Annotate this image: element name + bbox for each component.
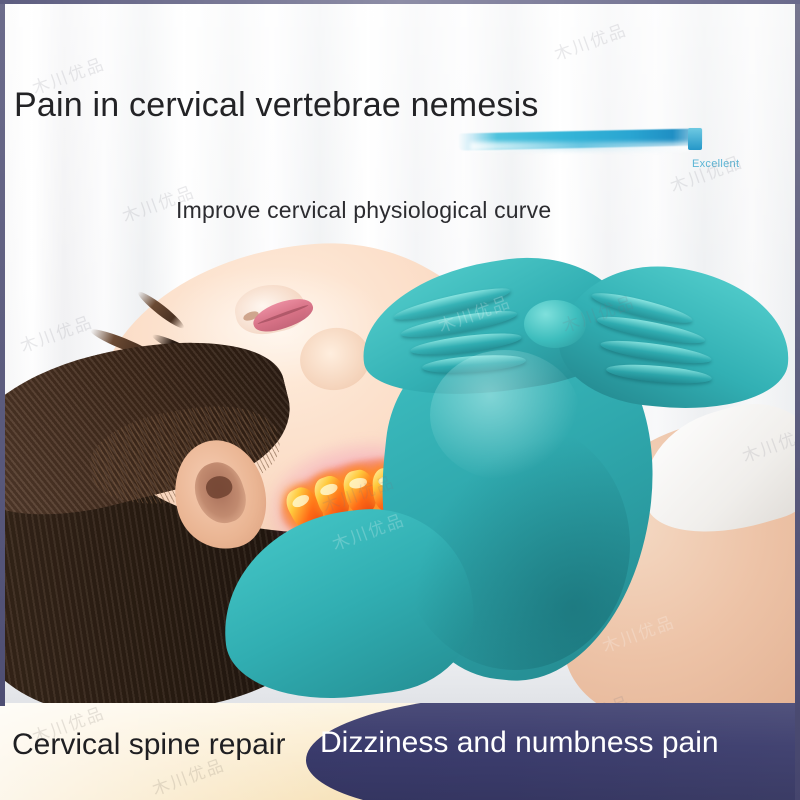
product-ad-image: Pain in cervical vertebrae nemesis Impro… xyxy=(0,0,800,800)
banner-right-label: Dizziness and numbness pain xyxy=(320,726,719,760)
left-edge-strip xyxy=(0,0,5,706)
page-title: Pain in cervical vertebrae nemesis xyxy=(14,86,539,125)
right-edge-strip xyxy=(795,0,800,800)
subtitle: Improve cervical physiological curve xyxy=(176,197,551,224)
brush-soft-edge xyxy=(470,142,690,151)
brush-tail xyxy=(688,128,702,150)
top-edge-strip xyxy=(0,0,800,4)
banner-left-label: Cervical spine repair xyxy=(12,728,285,762)
bottom-banner: 木川优品 木川优品 Cervical spine repair Dizzines… xyxy=(0,703,800,800)
